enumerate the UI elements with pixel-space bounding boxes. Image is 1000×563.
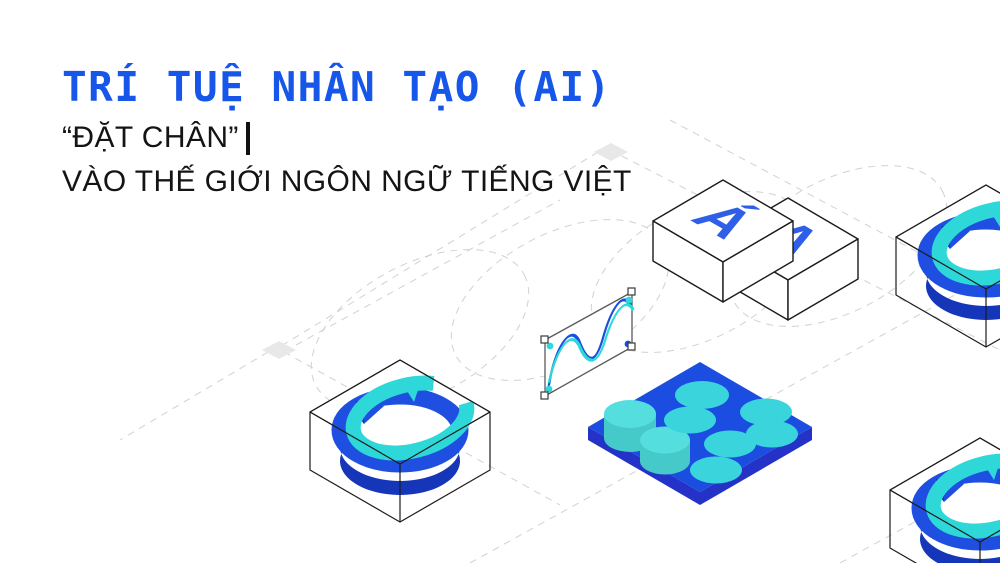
plate-node xyxy=(690,457,742,484)
handle-bottom-left xyxy=(541,392,548,399)
plate-node xyxy=(675,381,729,409)
subtitle-line-1: “ĐẶT CHÂN” xyxy=(62,122,682,155)
refresh-cube-left xyxy=(310,360,490,522)
poster-canvas: A Á xyxy=(0,0,1000,563)
headline-block: TRÍ TUỆ NHÂN TẠO (AI) “ĐẶT CHÂN” VÀO THẾ… xyxy=(62,66,682,197)
waveform-endpoint-dot xyxy=(546,386,553,393)
subtitle-line-2: VÀO THẾ GIỚI NGÔN NGỮ TIẾNG VIỆT xyxy=(62,167,682,197)
plate-node-raised xyxy=(640,427,690,475)
waveform-endpoint-dot xyxy=(626,297,633,304)
data-plate xyxy=(588,362,812,505)
refresh-cube-bottom-right xyxy=(890,438,1000,563)
text-caret xyxy=(246,122,250,155)
handle-top-left xyxy=(541,336,548,343)
handle-bottom-right xyxy=(628,343,635,350)
waveform-panel[interactable] xyxy=(541,288,635,399)
plate-node xyxy=(704,431,756,458)
waveform-endpoint-dot xyxy=(547,343,554,350)
page-title: TRÍ TUỆ NHÂN TẠO (AI) xyxy=(62,66,682,109)
handle-top-right xyxy=(628,288,635,295)
refresh-cube-top-right xyxy=(896,185,1000,347)
subtitle-line-1-text: “ĐẶT CHÂN” xyxy=(62,123,239,153)
guide-marker xyxy=(262,341,296,359)
